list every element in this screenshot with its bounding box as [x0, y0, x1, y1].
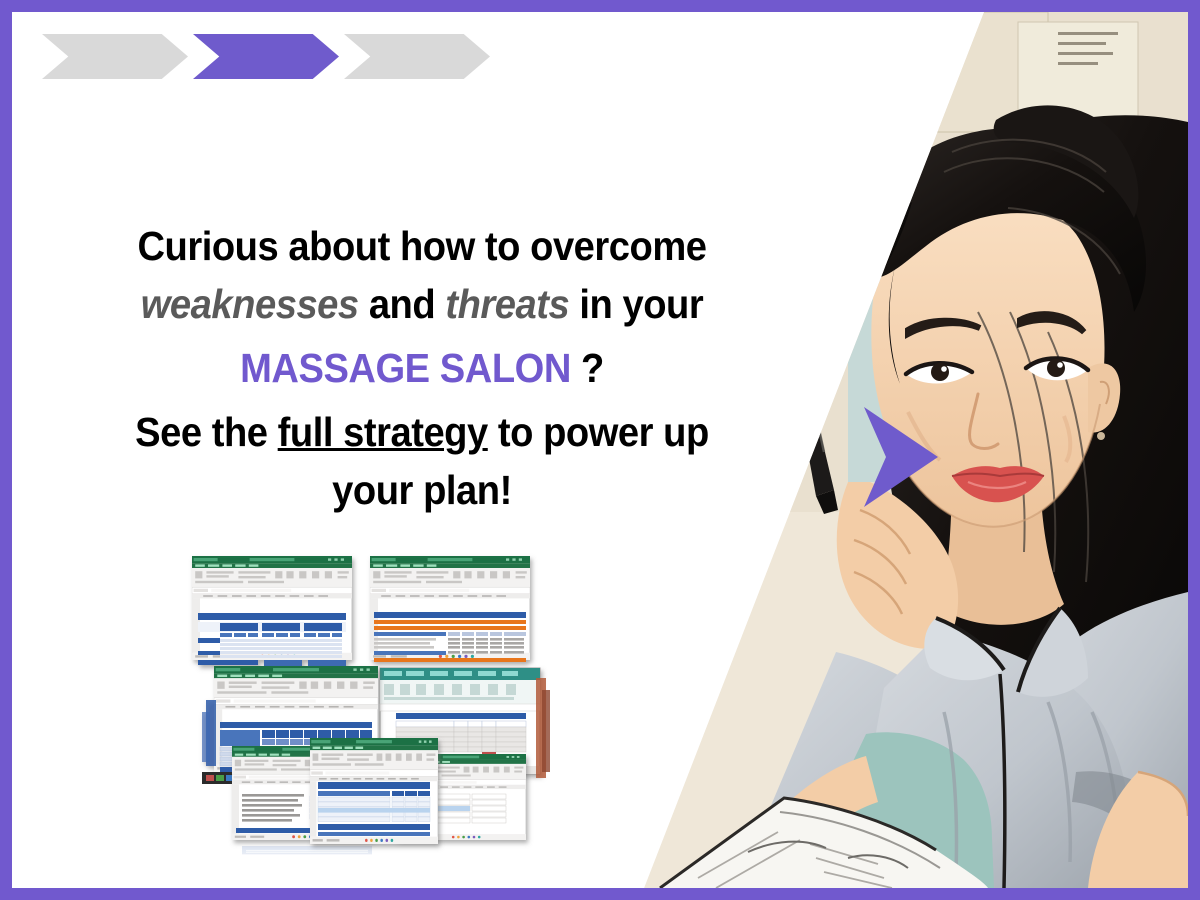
- headline-block: Curious about how to overcome weaknesses…: [78, 217, 766, 519]
- progress-chevrons: [42, 34, 512, 89]
- excel-window-1: [192, 556, 352, 668]
- chevron-step-2-active[interactable]: [193, 34, 339, 79]
- excel-window-2: [370, 556, 530, 662]
- headline-question-mark: ?: [581, 345, 604, 391]
- chevron-step-1[interactable]: [42, 34, 188, 79]
- headline-line-2-tail: in your: [579, 281, 703, 327]
- headline-brand-name: MASSAGE SALON: [240, 345, 571, 391]
- headline-line-2: weaknesses and threats in your: [78, 275, 766, 333]
- headline-conjunction: and: [369, 281, 435, 327]
- headline-emphasis-threats: threats: [445, 281, 569, 327]
- excel-window-front: [310, 738, 438, 844]
- chevron-step-3[interactable]: [344, 34, 490, 79]
- headline-cta-link[interactable]: full strategy: [278, 409, 488, 455]
- excel-collage-graphic: [184, 550, 554, 870]
- headline-cta-prefix: See the: [135, 409, 267, 455]
- slide-canvas: Curious about how to overcome weaknesses…: [12, 12, 1188, 888]
- headline-line-1: Curious about how to overcome: [78, 217, 766, 275]
- headline-emphasis-weaknesses: weaknesses: [141, 281, 359, 327]
- headline-line-4: See the full strategy to power up: [78, 403, 766, 461]
- headline-line-1-text: Curious about how to overcome: [137, 223, 706, 269]
- headline-line-3: MASSAGE SALON ?: [78, 339, 766, 397]
- headline-line-5: your plan!: [78, 461, 766, 519]
- excel-spreadsheet-thumbnails[interactable]: [184, 550, 554, 870]
- headline-cta-suffix: to power up: [498, 409, 709, 455]
- headline-line-5-text: your plan!: [332, 467, 512, 513]
